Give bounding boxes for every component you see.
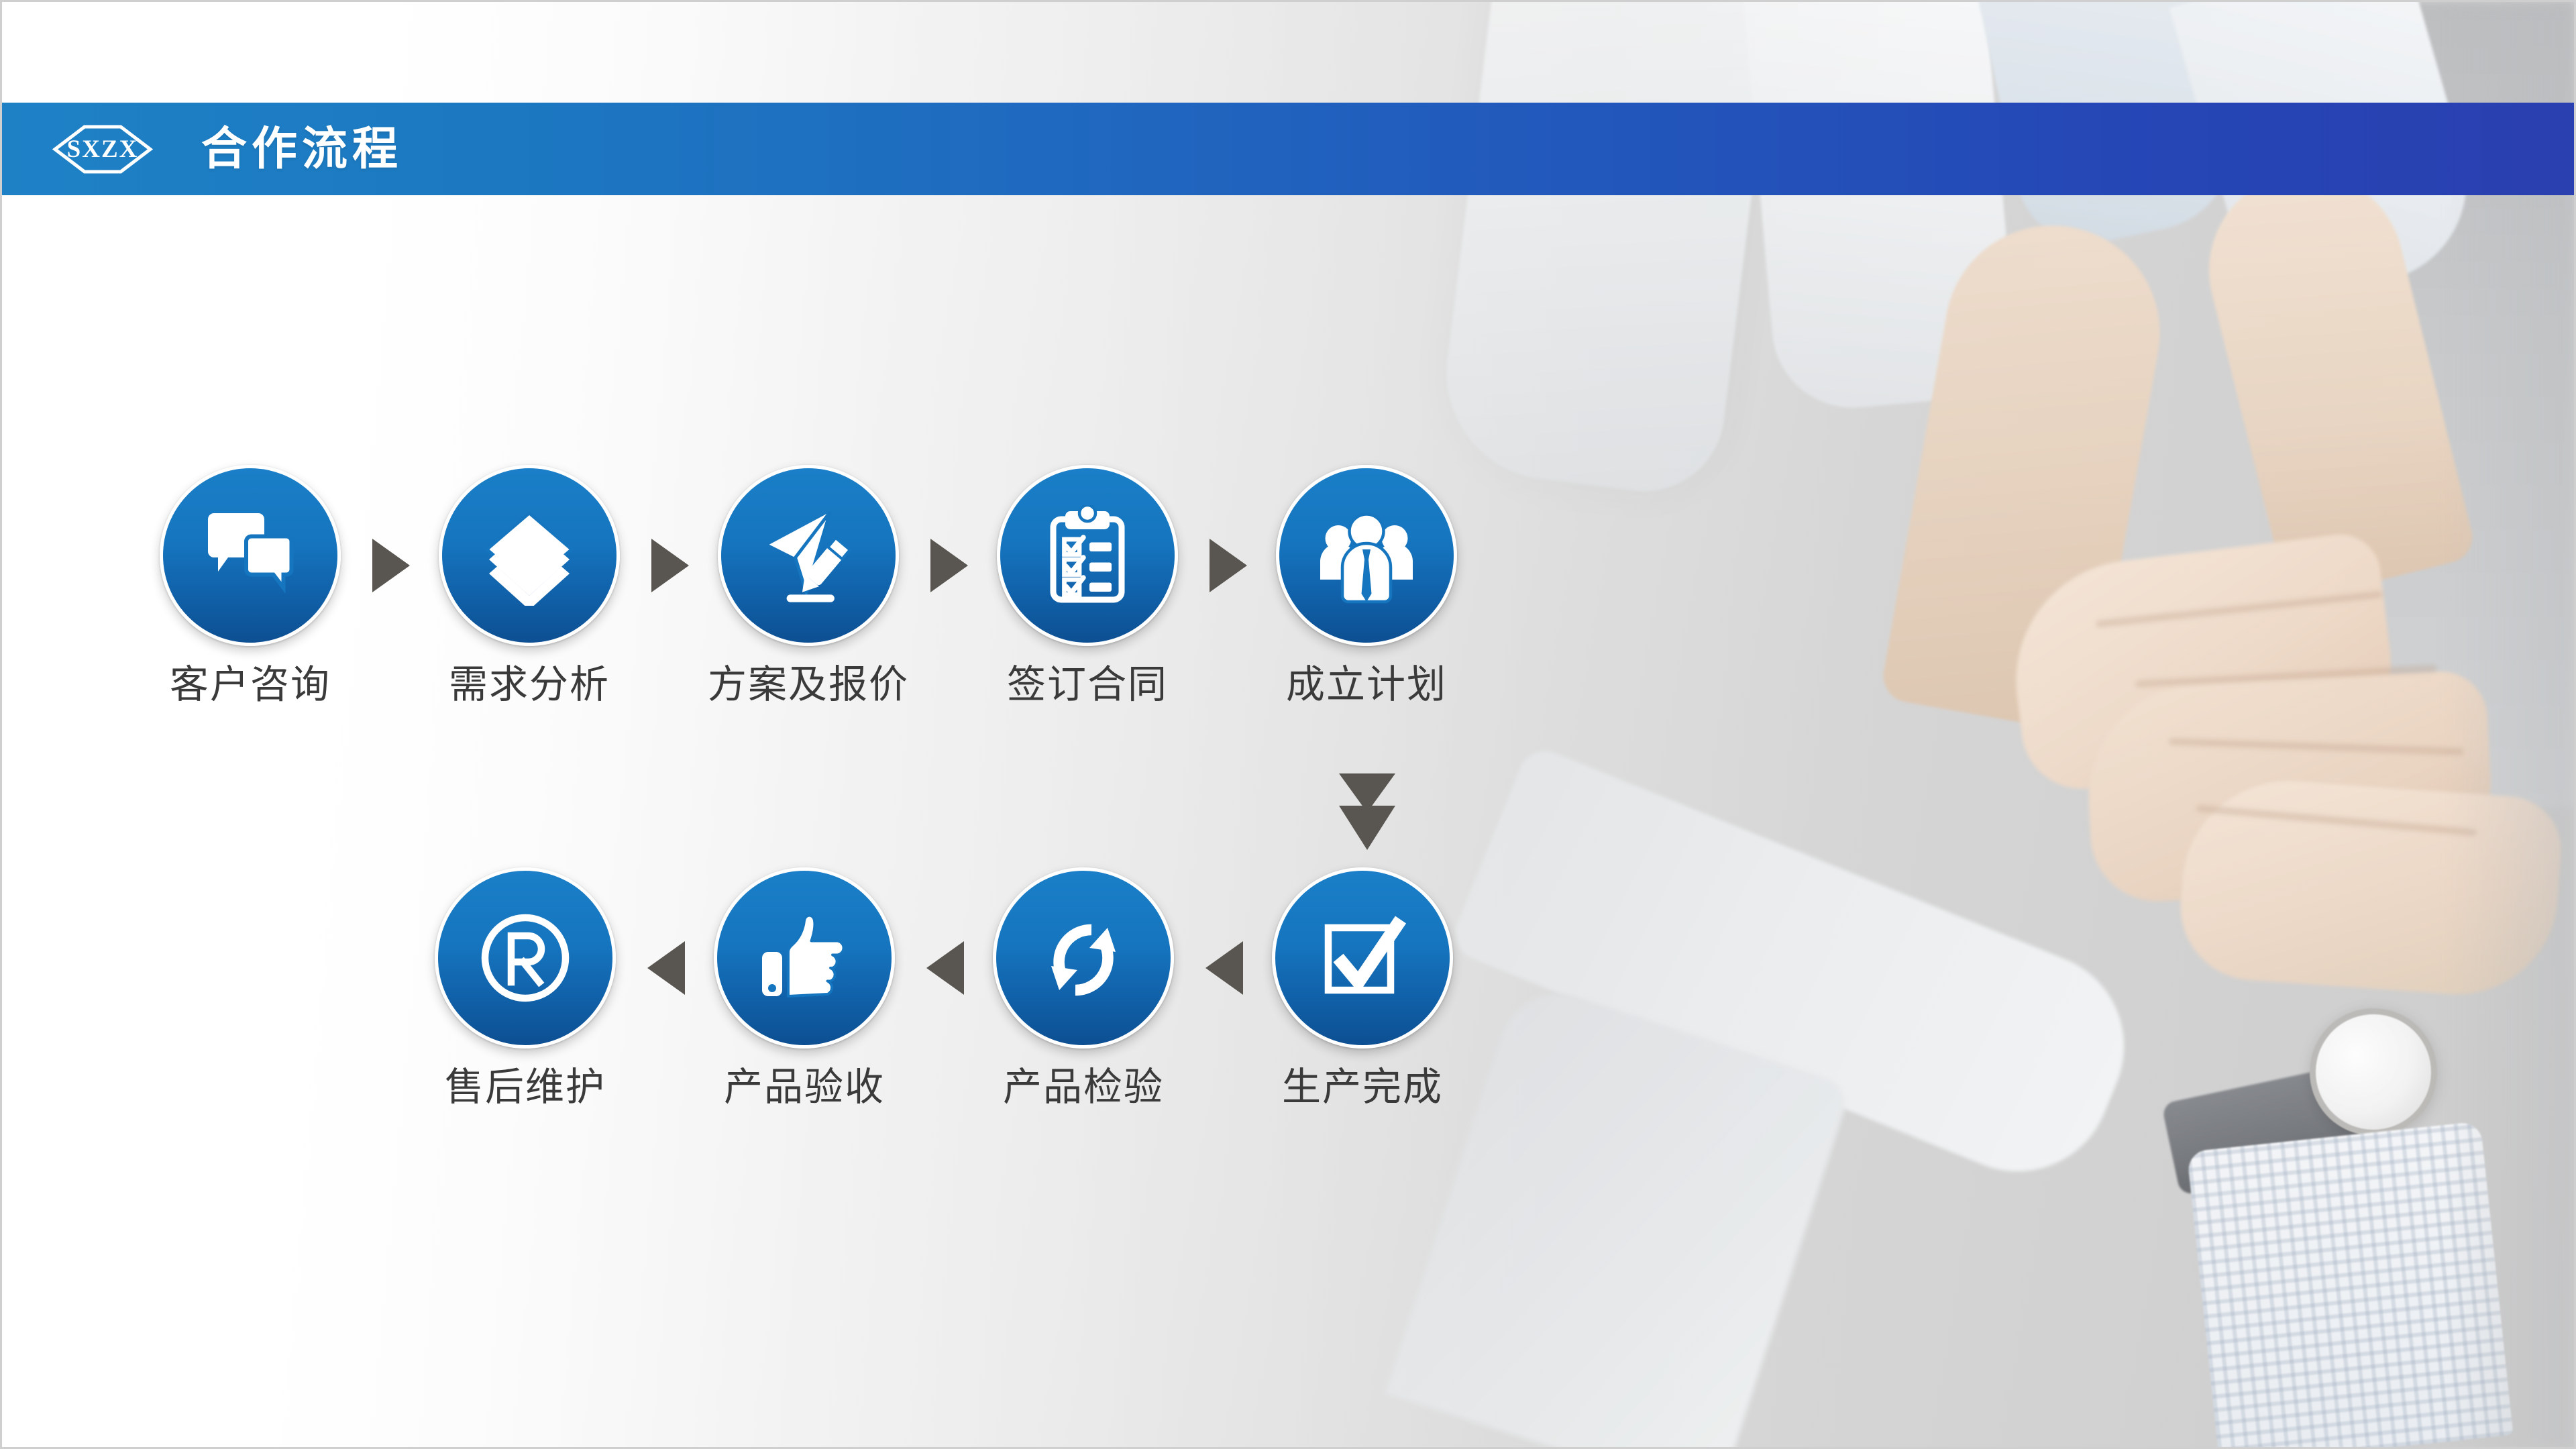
clipboard-checklist-icon [1037, 505, 1138, 606]
logo-text: SXZX [67, 137, 139, 162]
step-icon-circle [993, 867, 1174, 1049]
step-icon-circle [1276, 465, 1457, 646]
flow-step-xuqiu-fenxi[interactable]: 需求分析 [429, 465, 630, 706]
people-group-icon [1316, 505, 1417, 606]
slide-canvas: SXZX 合作流程 客户咨询 [0, 0, 2576, 1449]
step-icon-circle [439, 465, 620, 646]
step-icon-circle [1272, 867, 1453, 1049]
flow-step-qianding-hetong[interactable]: 签订合同 [987, 465, 1188, 706]
step-label: 产品检验 [983, 1067, 1184, 1108]
double-triangle-down-glyph [1327, 768, 1407, 855]
step-label: 生产完成 [1262, 1067, 1463, 1108]
flow-step-chanpin-jianyan[interactable]: 产品检验 [983, 867, 1184, 1108]
step-label: 客户咨询 [150, 665, 351, 706]
step-label: 成立计划 [1266, 665, 1467, 706]
triangle-left-icon-2 [926, 941, 964, 995]
triangle-right-icon-1 [372, 539, 410, 592]
flow-step-shouhou-weihu[interactable]: 售后维护 [425, 867, 626, 1108]
step-label: 方案及报价 [708, 665, 909, 706]
thumbs-up-icon [754, 908, 855, 1008]
flow-step-chengli-jihua[interactable]: 成立计划 [1266, 465, 1467, 706]
checkbox-check-icon [1312, 908, 1413, 1008]
triangle-left-icon-1 [647, 941, 685, 995]
step-label: 售后维护 [425, 1067, 626, 1108]
step-label: 签订合同 [987, 665, 1188, 706]
step-icon-circle [718, 465, 899, 646]
step-icon-circle [997, 465, 1178, 646]
flow-step-chanpin-yanshou[interactable]: 产品验收 [704, 867, 905, 1108]
layers-stack-icon [479, 505, 580, 606]
step-icon-circle [714, 867, 895, 1049]
registered-trademark-icon [475, 908, 576, 1008]
triangle-right-icon-2 [651, 539, 689, 592]
triangle-right-icon-3 [930, 539, 968, 592]
process-flow-diagram: 客户咨询 需求分析 [2, 2, 2576, 1449]
chat-bubbles-icon [200, 505, 301, 606]
triangle-right-icon-4 [1210, 539, 1247, 592]
triangle-left-icon-3 [1205, 941, 1243, 995]
step-label: 产品验收 [704, 1067, 905, 1108]
flow-step-fangan-baojia[interactable]: 方案及报价 [708, 465, 909, 706]
flow-step-kehu-zixun[interactable]: 客户咨询 [150, 465, 351, 706]
flow-step-shengchan-wancheng[interactable]: 生产完成 [1262, 867, 1463, 1108]
step-icon-circle [160, 465, 341, 646]
pen-checkmark-icon [754, 501, 863, 610]
step-icon-circle [435, 867, 616, 1049]
refresh-cycle-icon [1033, 908, 1134, 1008]
step-label: 需求分析 [429, 665, 630, 706]
double-triangle-down-icon [1327, 768, 1407, 855]
